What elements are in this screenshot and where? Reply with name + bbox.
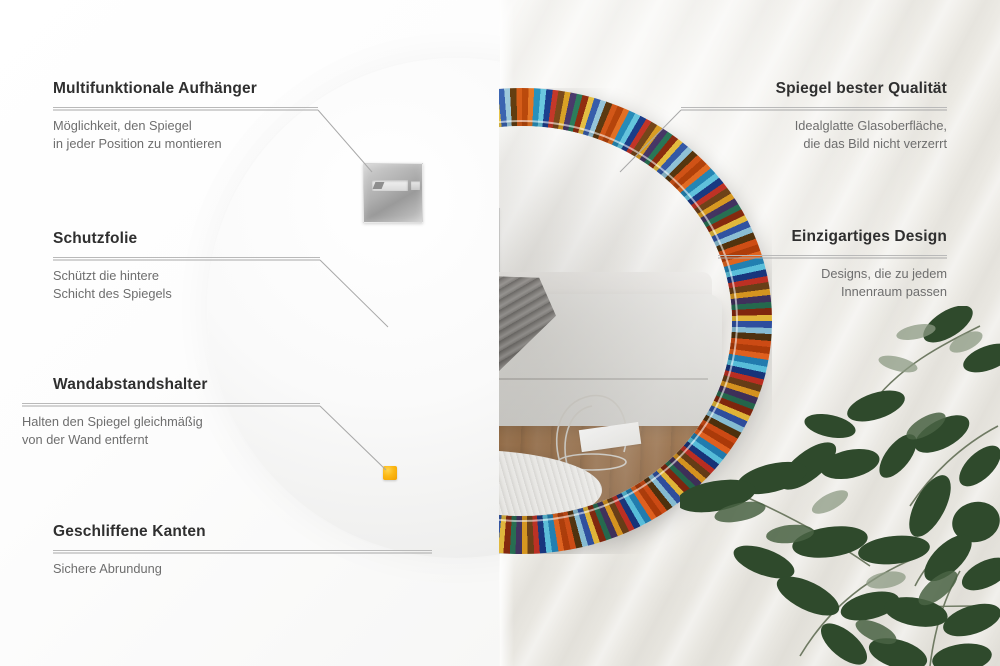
hanger-keyhole-slot [372,180,408,191]
callout-title: Einzigartiges Design [718,228,947,246]
wall-spacer-marker [383,466,397,480]
callout-multifunktionale-aufhaenger: Multifunktionale Aufhänger Möglichkeit, … [53,80,318,152]
callout-wandabstandshalter: Wandabstandshalter Halten den Spiegel gl… [22,376,320,448]
callout-rule [22,403,320,404]
callout-description: Halten den Spiegel gleichmäßig von der W… [22,413,320,448]
mirror-visible-half [499,88,772,554]
callout-description: Sichere Abrundung [53,560,432,578]
round-mirror [499,88,772,554]
callout-title: Schutzfolie [53,230,320,248]
callout-rule [681,107,947,108]
callout-title: Multifunktionale Aufhänger [53,80,318,98]
callout-title: Wandabstandshalter [53,376,320,394]
callout-description: Möglichkeit, den Spiegel in jeder Positi… [53,117,318,152]
callout-title: Spiegel bester Qualität [681,80,947,98]
callout-einzigartiges-design: Einzigartiges Design Designs, die zu jed… [718,228,947,300]
callout-rule [53,257,320,258]
callout-title: Geschliffene Kanten [53,523,432,541]
hanger-plate [363,163,423,223]
callout-spiegel-bester-qualitaet: Spiegel bester Qualität Idealglatte Glas… [681,80,947,152]
callout-description: Schützt die hintere Schicht des Spiegels [53,267,320,302]
callout-description: Idealglatte Glasoberfläche, die das Bild… [681,117,947,152]
callout-geschliffene-kanten: Geschliffene Kanten Sichere Abrundung [53,523,432,578]
hanger-notch [411,181,420,190]
callout-rule [53,107,318,108]
callout-description: Designs, die zu jedem Innenraum passen [718,265,947,300]
infographic-stage: Multifunktionale Aufhänger Möglichkeit, … [0,0,1000,666]
callout-rule [718,255,947,256]
callout-schutzfolie: Schutzfolie Schützt die hintere Schicht … [53,230,320,302]
mirror-glass [499,126,732,516]
callout-rule [53,550,432,551]
